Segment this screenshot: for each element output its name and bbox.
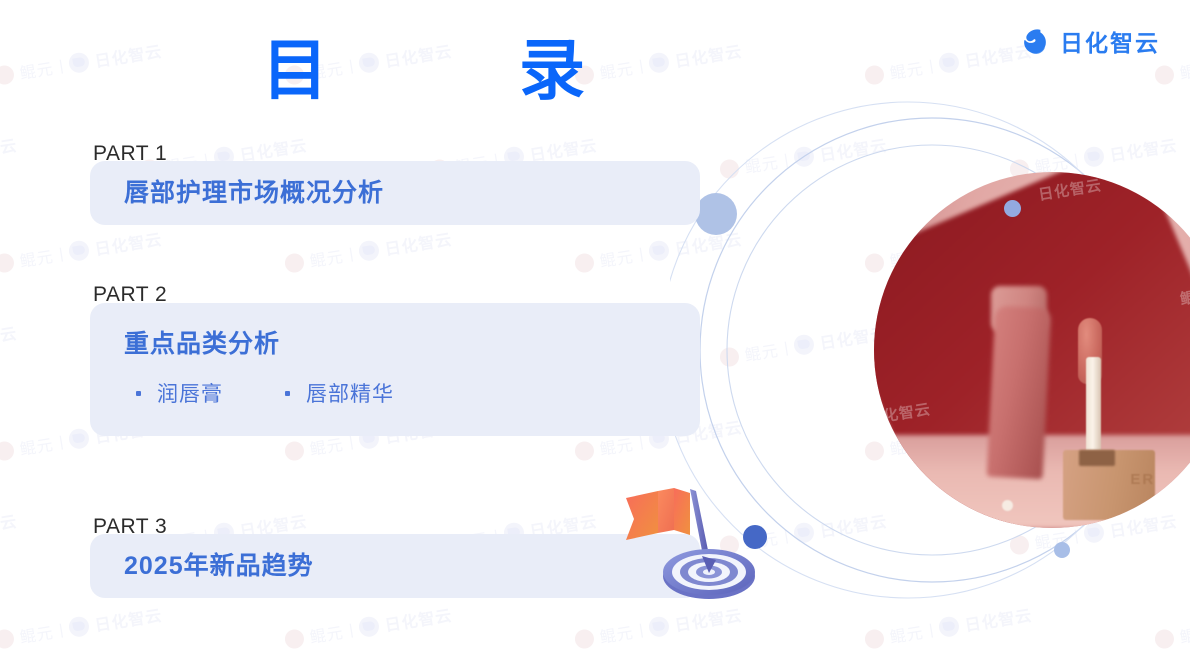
watermark-product: 日化智云 — [0, 508, 19, 542]
watermark-product: 日化智云 — [0, 132, 19, 166]
part-label: PART 1 — [90, 142, 700, 165]
watermark: 鲲元|日化智云 — [283, 602, 454, 652]
watermark-company: 鲲元 — [598, 619, 635, 648]
toc-item-part-2[interactable]: PART 2 重点品类分析 润唇膏 唇部精华 — [90, 283, 700, 436]
part-card[interactable]: 重点品类分析 润唇膏 唇部精华 — [90, 303, 700, 436]
part-card[interactable]: 唇部护理市场概况分析 — [90, 161, 700, 225]
whale-swirl-logo-icon — [647, 615, 670, 638]
watermark-dot-icon — [0, 252, 15, 274]
watermark-separator: | — [638, 57, 645, 74]
product-box-letters: ER — [1130, 471, 1155, 488]
whale-swirl-logo-icon — [67, 427, 90, 450]
bullet-dot-icon — [136, 391, 141, 396]
toc-item-part-3[interactable]: PART 3 2025年新品趋势 — [90, 515, 700, 598]
part-label: PART 2 — [90, 283, 700, 306]
watermark-product: 日化智云 — [383, 602, 454, 636]
whale-swirl-logo-icon — [67, 239, 90, 262]
watermark: 鲲元|日化智云 — [0, 226, 164, 276]
whale-swirl-logo-icon — [1017, 26, 1051, 60]
watermark-separator: | — [58, 433, 65, 450]
toc-item-part-1[interactable]: PART 1 唇部护理市场概况分析 — [90, 142, 700, 225]
watermark-separator: | — [58, 621, 65, 638]
part-label: PART 3 — [90, 515, 700, 538]
watermark-product: 日化智云 — [93, 38, 164, 72]
list-item[interactable]: 润唇膏 — [136, 378, 223, 408]
watermark-dot-icon — [0, 64, 15, 86]
accent-dot-large — [695, 193, 737, 235]
whale-swirl-logo-icon — [67, 51, 90, 74]
watermark-separator: | — [638, 245, 645, 262]
bullet-dot-icon — [285, 391, 290, 396]
watermark-separator: | — [58, 57, 65, 74]
whale-swirl-logo-icon — [357, 239, 380, 262]
watermark-company: 鲲元 — [18, 431, 55, 460]
part-heading: 重点品类分析 — [124, 327, 674, 362]
watermark-dot-icon — [574, 628, 596, 650]
watermark-company: 鲲元 — [18, 243, 55, 272]
whale-swirl-logo-icon — [67, 615, 90, 638]
watermark-dot-icon — [574, 440, 596, 462]
part-card[interactable]: 2025年新品趋势 — [90, 534, 700, 598]
whale-swirl-logo-icon — [647, 51, 670, 74]
flag-on-target-icon — [612, 478, 758, 604]
watermark-company: 鲲元 — [18, 55, 55, 84]
watermark-dot-icon — [574, 252, 596, 274]
watermark: 鲲元|日化智云 — [0, 320, 19, 370]
bullet-label: 润唇膏 — [157, 378, 223, 408]
watermark-dot-icon — [284, 252, 306, 274]
lip-gloss-photo: ER 日化智云 鲲元 日化智云 — [874, 172, 1190, 528]
watermark-separator: | — [638, 621, 645, 638]
watermark-separator: | — [348, 245, 355, 262]
page-title: 目 录 — [262, 36, 619, 105]
watermark: 鲲元|日化智云 — [0, 132, 19, 182]
part-bullet-list: 润唇膏 唇部精华 — [124, 378, 674, 408]
list-item[interactable]: 唇部精华 — [285, 378, 394, 408]
watermark: 鲲元|日化智云 — [283, 226, 454, 276]
part-heading: 唇部护理市场概况分析 — [124, 176, 384, 211]
watermark-product: 日化智云 — [93, 226, 164, 260]
whale-swirl-logo-icon — [647, 239, 670, 262]
watermark-separator: | — [348, 621, 355, 638]
watermark-dot-icon — [0, 628, 15, 650]
watermark-text: 鲲元 — [1179, 284, 1190, 310]
watermark-company: 鲲元 — [598, 243, 635, 272]
brand-name: 日化智云 — [1060, 32, 1160, 55]
watermark-product: 日化智云 — [93, 602, 164, 636]
accent-dot-small — [1004, 200, 1021, 217]
whale-swirl-logo-icon — [357, 615, 380, 638]
watermark-company: 鲲元 — [308, 619, 345, 648]
watermark-company: 鲲元 — [18, 619, 55, 648]
watermark: 鲲元|日化智云 — [0, 508, 19, 558]
accent-dot-small — [1054, 542, 1070, 558]
watermark-dot-icon — [284, 628, 306, 650]
watermark-dot-icon — [284, 440, 306, 462]
watermark-product: 日化智云 — [0, 320, 19, 354]
watermark-separator: | — [58, 245, 65, 262]
watermark-product: 日化智云 — [383, 226, 454, 260]
part-heading: 2025年新品趋势 — [124, 549, 314, 584]
watermark-company: 鲲元 — [308, 243, 345, 272]
watermark-dot-icon — [0, 440, 15, 462]
brand-logo: 日化智云 — [1017, 26, 1160, 60]
watermark: 鲲元|日化智云 — [0, 38, 164, 88]
watermark: 鲲元|日化智云 — [0, 602, 164, 652]
bullet-label: 唇部精华 — [306, 378, 394, 408]
